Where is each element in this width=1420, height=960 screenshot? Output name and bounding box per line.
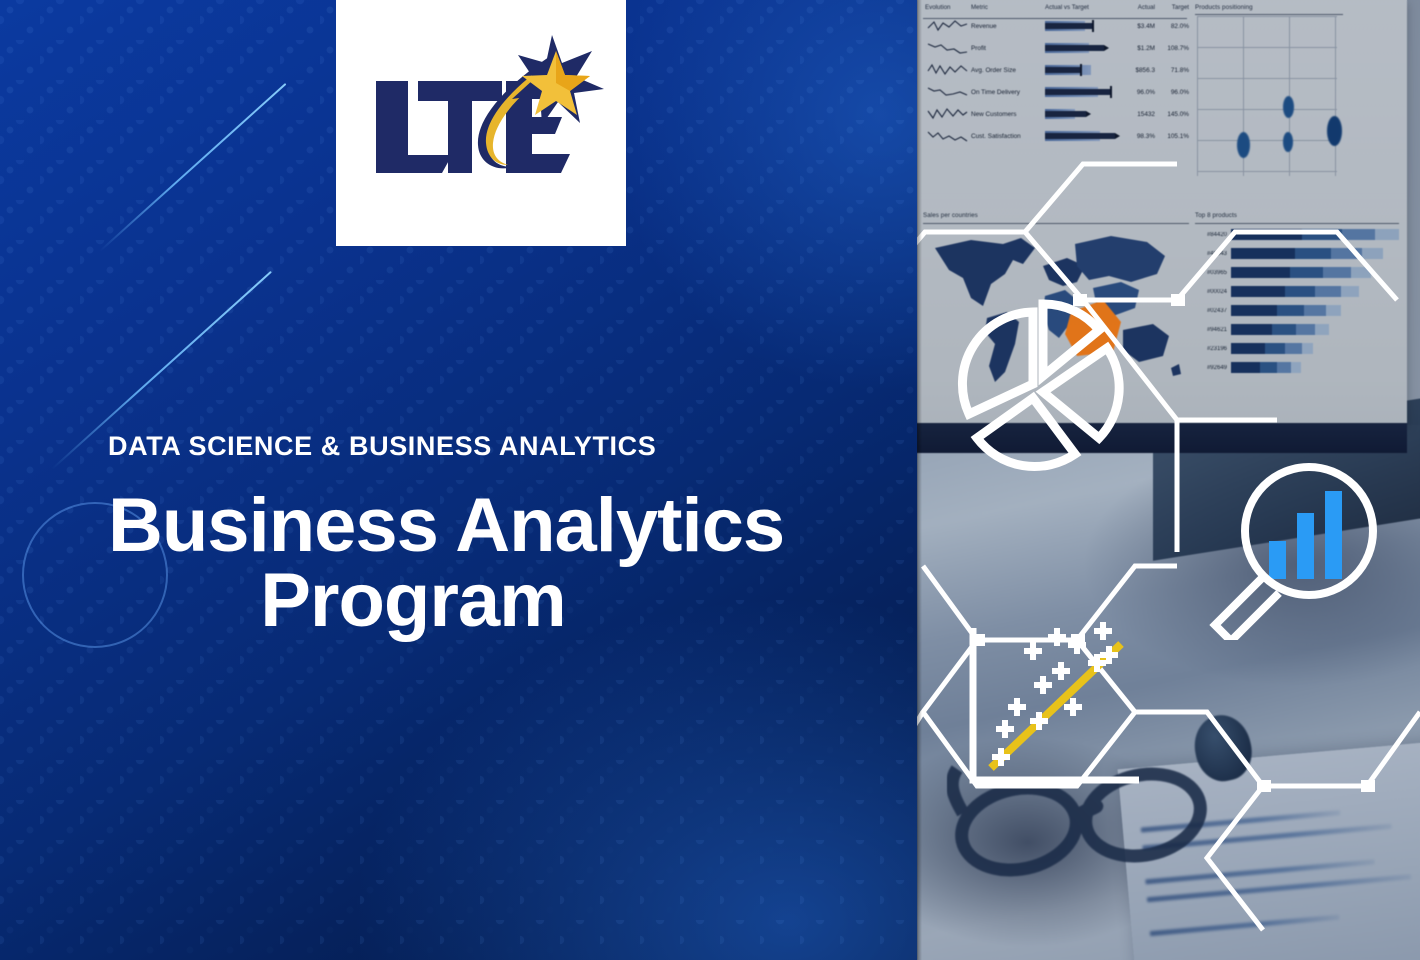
product-code: #03965 [1195, 270, 1231, 276]
top-products-rule [1195, 223, 1399, 224]
kpi-metric-label: On Time Delivery [971, 89, 1045, 96]
kpi-target-value: 96.0% [1155, 89, 1189, 96]
product-code: #23196 [1195, 346, 1231, 352]
product-bar [1231, 343, 1313, 354]
product-bar [1231, 324, 1329, 335]
kpi-metric-label: Revenue [971, 23, 1045, 30]
kpi-row: Profit $1.2M 108.7% [923, 37, 1191, 59]
products-positioning-panel: Products positioning [1195, 4, 1345, 11]
product-code: #84420 [1195, 232, 1231, 238]
kpi-bullet-bar [1045, 40, 1121, 56]
kpi-bullet-bar [1045, 106, 1121, 122]
positioning-plot-grid [1197, 16, 1337, 176]
sparkline [925, 18, 971, 34]
kpi-target-value: 82.0% [1155, 23, 1189, 30]
scatter-trendline-icon [957, 620, 1162, 805]
top-product-row: #03965 [1195, 263, 1403, 282]
bubble-point [1283, 96, 1294, 118]
kpi-bullet-bar [1045, 18, 1121, 34]
brand-logo-card [336, 0, 626, 246]
top-product-row: #94621 [1195, 320, 1403, 339]
kpi-table-header: Evolution Metric Actual vs Target Actual… [923, 4, 1191, 11]
kpi-row: New Customers 15432 145.0% [923, 103, 1191, 125]
kpi-actual-value: 15432 [1121, 111, 1155, 118]
product-bar [1231, 267, 1371, 278]
top-products-rows: #84420 #48643 #03965 #00024 [1195, 225, 1403, 377]
product-code: #48643 [1195, 251, 1231, 257]
product-bar [1231, 305, 1341, 316]
kpi-table-panel: Evolution Metric Actual vs Target Actual… [923, 4, 1191, 147]
kpi-actual-value: 96.0% [1121, 89, 1155, 96]
page-title: Business Analytics Program [108, 488, 888, 638]
col-metric: Metric [971, 4, 1045, 11]
product-bar [1231, 229, 1399, 240]
product-bar [1231, 286, 1359, 297]
col-actual: Actual [1121, 4, 1155, 11]
bubble-point [1327, 116, 1342, 146]
product-code: #00024 [1195, 289, 1231, 295]
kpi-row: Avg. Order Size $856.3 71.8% [923, 59, 1191, 81]
positioning-rule [1195, 14, 1343, 15]
products-positioning-title: Products positioning [1195, 4, 1345, 11]
kpi-target-value: 105.1% [1155, 133, 1189, 140]
product-code: #94621 [1195, 327, 1231, 333]
col-evolution: Evolution [925, 4, 971, 11]
magnifier-bar-chart-icon [1197, 455, 1387, 640]
kpi-metric-label: Profit [971, 45, 1045, 52]
top-product-row: #23196 [1195, 339, 1403, 358]
headline-line-1: Business Analytics [108, 483, 784, 568]
kpi-target-value: 145.0% [1155, 111, 1189, 118]
col-actual-vs-target: Actual vs Target [1045, 4, 1121, 11]
product-code: #92649 [1195, 365, 1231, 371]
sparkline [925, 84, 971, 100]
sparkline [925, 62, 971, 78]
kpi-bullet-bar [1045, 128, 1121, 144]
top-product-row: #48643 [1195, 244, 1403, 263]
kpi-rows: Revenue $3.4M 82.0% Profit $1.2M 108.7% … [923, 15, 1191, 147]
top-products-title: Top 8 products [1195, 212, 1403, 219]
kpi-bullet-bar [1045, 62, 1121, 78]
eyebrow-label: DATA SCIENCE & BUSINESS ANALYTICS [108, 432, 888, 462]
product-code: #02437 [1195, 308, 1231, 314]
kpi-row: On Time Delivery 96.0% 96.0% [923, 81, 1191, 103]
magnifier-bars [1269, 491, 1342, 579]
bubble-point [1283, 132, 1293, 152]
kpi-metric-label: Avg. Order Size [971, 67, 1045, 74]
top-product-row: #92649 [1195, 358, 1403, 377]
magnifier-handle [1215, 577, 1279, 640]
product-bar [1231, 362, 1301, 373]
kpi-metric-label: New Customers [971, 111, 1045, 118]
pie-chart-outline-icon [947, 288, 1127, 478]
kpi-actual-value: $1.2M [1121, 45, 1155, 52]
kpi-actual-value: 98.3% [1121, 133, 1155, 140]
bubble-point [1237, 132, 1250, 158]
lte-logo [356, 33, 606, 213]
product-bar [1231, 248, 1383, 259]
top-product-row: #00024 [1195, 282, 1403, 301]
kpi-row: Cust. Satisfaction 98.3% 105.1% [923, 125, 1191, 147]
poster-canvas: DATA SCIENCE & BUSINESS ANALYTICS Busine… [0, 0, 1420, 960]
top-products-panel: Top 8 products #84420 #48643 #03965 #000… [1195, 212, 1403, 377]
col-target: Target [1155, 4, 1189, 11]
hero-text-block: DATA SCIENCE & BUSINESS ANALYTICS Busine… [108, 432, 888, 638]
sales-map-title: Sales per countries [923, 212, 1193, 219]
top-product-row: #84420 [1195, 225, 1403, 244]
analytics-photo-panel: Evolution Metric Actual vs Target Actual… [917, 0, 1420, 960]
headline-line-2: Program [108, 563, 888, 638]
top-product-row: #02437 [1195, 301, 1403, 320]
sparkline [925, 128, 971, 144]
sparkline [925, 106, 971, 122]
kpi-bullet-bar [1045, 84, 1121, 100]
kpi-actual-value: $3.4M [1121, 23, 1155, 30]
map-rule [923, 223, 1189, 224]
kpi-metric-label: Cust. Satisfaction [971, 133, 1045, 140]
kpi-target-value: 71.8% [1155, 67, 1189, 74]
kpi-actual-value: $856.3 [1121, 67, 1155, 74]
sparkline [925, 40, 971, 56]
kpi-target-value: 108.7% [1155, 45, 1189, 52]
